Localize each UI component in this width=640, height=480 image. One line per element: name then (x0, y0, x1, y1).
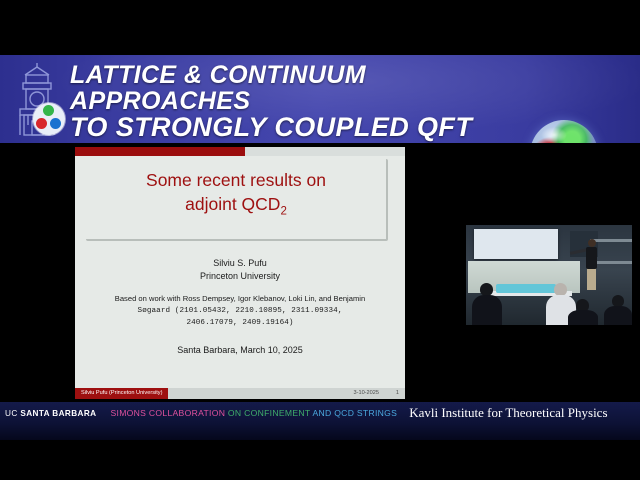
simons-collaboration-text: SIMONS COLLABORATION ON CONFINEMENT AND … (96, 408, 397, 418)
dot-green (43, 105, 54, 116)
slide-footer-date: 3-10-2025 (353, 388, 379, 399)
slide-credit-line2: Søgaard (2101.05432, 2210.10895, 2311.09… (89, 305, 391, 317)
slide-page-number: 1 (396, 388, 399, 399)
slide-title-subscript: 2 (280, 205, 286, 217)
header-title-line1: LATTICE & CONTINUUM APPROACHES (70, 63, 510, 114)
simons-part2: ON CONFINEMENT (228, 408, 310, 418)
rgb-dots-logo (33, 103, 65, 135)
webcam-speaker-body (586, 247, 597, 269)
simons-part1: SIMONS COLLABORATION (110, 408, 225, 418)
slide-title-line2: adjoint QCD (185, 194, 280, 214)
presentation-slide: Some recent results on adjoint QCD2 Silv… (75, 147, 405, 399)
dot-blue (50, 118, 61, 129)
ucsb-uc: UC (5, 409, 18, 418)
slide-date-location: Santa Barbara, March 10, 2025 (75, 345, 405, 355)
slide-author-name: Silviu S. Pufu (75, 257, 405, 270)
webcam-projection-screen (474, 229, 558, 259)
sponsor-footer-band: UC SANTA BARBARA SIMONS COLLABORATION ON… (0, 402, 640, 440)
conference-header-banner: LATTICE & CONTINUUM APPROACHES TO STRONG… (0, 55, 640, 143)
slide-top-bar (75, 147, 405, 156)
webcam-audience-shoulders (604, 306, 632, 325)
webcam-speaker-legs (587, 268, 596, 290)
letterbox-bottom (0, 440, 640, 480)
kitp-text: Kavli Institute for Theoretical Physics (397, 405, 607, 421)
slide-credit-block: Based on work with Ross Dempsey, Igor Kl… (89, 293, 391, 329)
video-content-area: Some recent results on adjoint QCD2 Silv… (0, 143, 640, 402)
qcd-sphere-logo (523, 115, 605, 143)
slide-author-block: Silviu S. Pufu Princeton University (75, 257, 405, 283)
sphere-highlight (541, 127, 567, 143)
webcam-shelf-upper (590, 239, 632, 242)
sponsor-strip: UC SANTA BARBARA SIMONS COLLABORATION ON… (0, 402, 640, 424)
letterbox-top (0, 0, 640, 55)
webcam-table-items (496, 284, 556, 293)
ucsb-santa-barbara: SANTA BARBARA (20, 409, 96, 418)
slide-footer-author: Silviu Pufu (Princeton University) (75, 388, 168, 399)
slide-affiliation: Princeton University (75, 270, 405, 283)
dot-red (36, 118, 47, 129)
ucsb-logo-text: UC SANTA BARBARA (0, 409, 96, 418)
slide-title-line1: Some recent results on (146, 170, 326, 190)
header-title-line2: TO STRONGLY COUPLED QFT (70, 114, 510, 142)
slide-top-bar-accent (75, 147, 245, 156)
webcam-audience-shoulders (472, 295, 502, 325)
lecture-hall-video-inset (466, 225, 632, 325)
slide-title: Some recent results on adjoint QCD2 (86, 169, 386, 220)
webcam-speaker-head (588, 239, 596, 247)
slide-credit-line1: Based on work with Ross Dempsey, Igor Kl… (89, 293, 391, 305)
simons-part3: AND QCD STRINGS (312, 408, 397, 418)
header-title: LATTICE & CONTINUUM APPROACHES TO STRONG… (70, 63, 510, 142)
slide-footer-bar: Silviu Pufu (Princeton University) 3-10-… (75, 388, 405, 399)
video-player-frame: LATTICE & CONTINUUM APPROACHES TO STRONG… (0, 0, 640, 480)
webcam-audience-shoulders (568, 310, 598, 325)
slide-credit-line3: 2406.17079, 2409.19164) (89, 317, 391, 329)
